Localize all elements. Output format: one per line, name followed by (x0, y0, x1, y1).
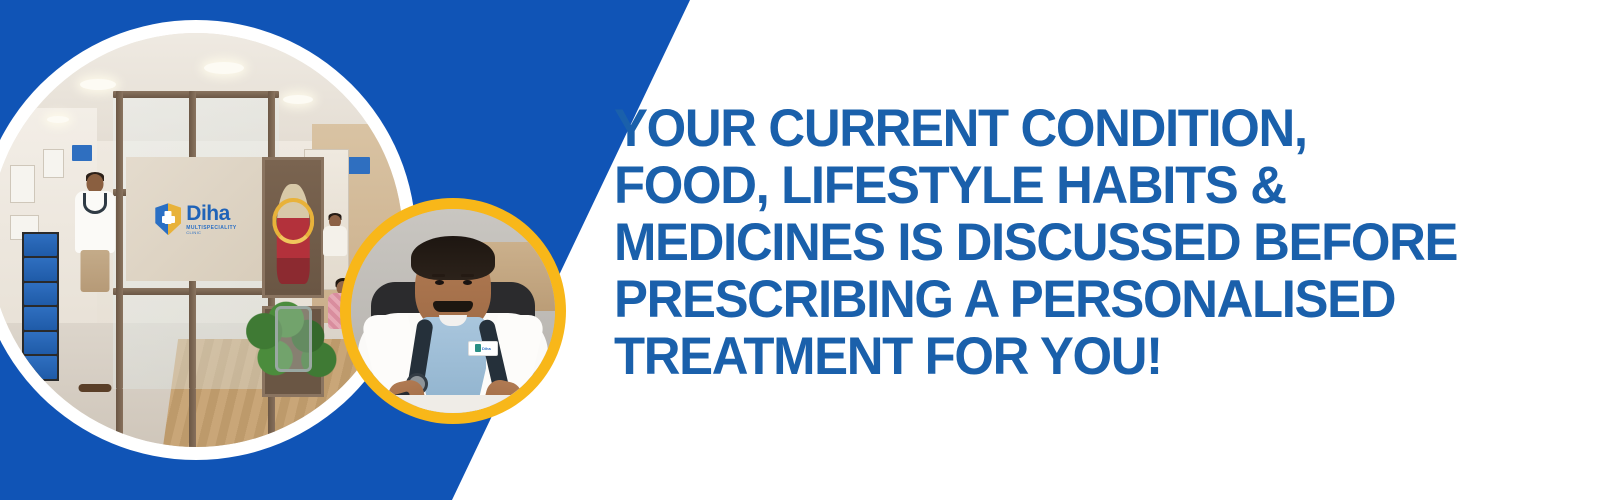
frame-leg (268, 389, 275, 447)
clinic-logo-board: Diha MULTISPECIALITY CLINIC (126, 157, 267, 281)
clinic-logo-wordmark: Diha MULTISPECIALITY CLINIC (186, 203, 236, 235)
cross-icon-horizontal (162, 216, 174, 223)
leaflet (24, 307, 57, 330)
garland (273, 198, 315, 244)
leaflet (24, 258, 57, 281)
leaflet-rack (22, 232, 59, 381)
nurse-uniform (323, 226, 347, 256)
ceiling-light (47, 116, 69, 123)
wall-poster (10, 165, 35, 202)
coat-logo-badge: Diha (468, 341, 498, 356)
doctor-mustache (433, 301, 473, 312)
badge-mark-icon (475, 344, 481, 352)
doctor-portrait-circle: Diha (340, 198, 566, 424)
headline: YOUR CURRENT CONDITION, FOOD, LIFESTYLE … (614, 100, 1564, 385)
desk-surface (351, 395, 555, 413)
leaflet (24, 234, 57, 257)
ceiling-light (80, 79, 116, 90)
stethoscope-icon (83, 193, 107, 214)
clinic-interior-image: Diha MULTISPECIALITY CLINIC (0, 33, 403, 447)
doctor-hair (411, 236, 495, 280)
doctor-shoes (78, 384, 111, 392)
badge-text: Diha (482, 346, 491, 351)
doctor-trousers (80, 250, 109, 292)
ceiling-light (204, 62, 244, 74)
headline-line-3: MEDICINES IS DISCUSSED BEFORE (614, 214, 1526, 271)
wall-sign (72, 145, 93, 162)
headline-line-4: PRESCRIBING A PERSONALISED (614, 271, 1526, 328)
shield-icon (155, 203, 181, 235)
walking-doctor (59, 174, 129, 389)
headline-line-5: TREATMENT FOR YOU! (614, 328, 1526, 385)
leaflet (24, 356, 57, 379)
headline-line-2: FOOD, LIFESTYLE HABITS & (614, 157, 1526, 214)
clinic-logo-subtitle-2: CLINIC (186, 231, 236, 235)
leaflet (24, 283, 57, 306)
doctor-portrait-photo: Diha (351, 209, 555, 413)
headline-line-1: YOUR CURRENT CONDITION, (614, 100, 1526, 157)
shrine-niche (262, 157, 324, 298)
leaflet (24, 332, 57, 355)
clinic-logo-name: Diha (186, 203, 236, 224)
doctor-eyebrow-left (432, 274, 445, 277)
promo-banner: Diha MULTISPECIALITY CLINIC (0, 0, 1600, 500)
frame-leg (189, 389, 196, 447)
doctor-eyebrow-right (461, 274, 474, 277)
clinic-photo: Diha MULTISPECIALITY CLINIC (0, 33, 403, 447)
waiting-chair (275, 306, 312, 372)
frame-leg (116, 389, 123, 447)
